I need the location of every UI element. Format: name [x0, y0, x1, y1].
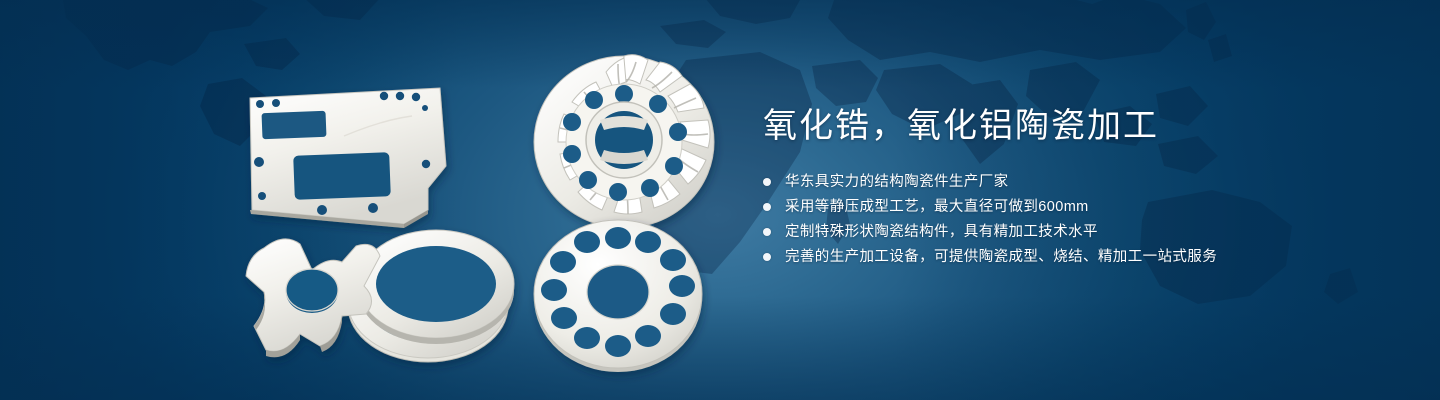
- ceramic-cross-part-and-rings: [246, 230, 514, 362]
- feature-text: 定制特殊形状陶瓷结构件，具有精加工技术水平: [785, 221, 1098, 243]
- page-title: 氧化锆，氧化铝陶瓷加工: [763, 104, 1383, 148]
- list-item: 华东具实力的结构陶瓷件生产厂家: [763, 170, 1383, 194]
- ceramic-impeller: [534, 55, 714, 228]
- list-item: 定制特殊形状陶瓷结构件，具有精加工技术水平: [763, 220, 1383, 244]
- feature-text: 完善的生产加工设备，可提供陶瓷成型、烧结、精加工一站式服务: [785, 246, 1217, 268]
- ceramic-perforated-disc: [534, 220, 702, 372]
- bullet-dot-icon: [763, 253, 771, 261]
- bullet-dot-icon: [763, 178, 771, 186]
- list-item: 完善的生产加工设备，可提供陶瓷成型、烧结、精加工一站式服务: [763, 245, 1383, 269]
- hero-banner: 氧化锆，氧化铝陶瓷加工 华东具实力的结构陶瓷件生产厂家 采用等静压成型工艺，最大…: [0, 0, 1440, 400]
- list-item: 采用等静压成型工艺，最大直径可做到600mm: [763, 195, 1383, 219]
- banner-copy: 氧化锆，氧化铝陶瓷加工 华东具实力的结构陶瓷件生产厂家 采用等静压成型工艺，最大…: [763, 104, 1383, 270]
- ceramic-products-image: [232, 38, 722, 384]
- feature-list: 华东具实力的结构陶瓷件生产厂家 采用等静压成型工艺，最大直径可做到600mm 定…: [763, 170, 1383, 269]
- feature-text: 华东具实力的结构陶瓷件生产厂家: [785, 171, 1009, 193]
- ceramic-mounting-plate: [250, 88, 446, 228]
- bullet-dot-icon: [763, 203, 771, 211]
- feature-text: 采用等静压成型工艺，最大直径可做到600mm: [785, 196, 1089, 218]
- bullet-dot-icon: [763, 228, 771, 236]
